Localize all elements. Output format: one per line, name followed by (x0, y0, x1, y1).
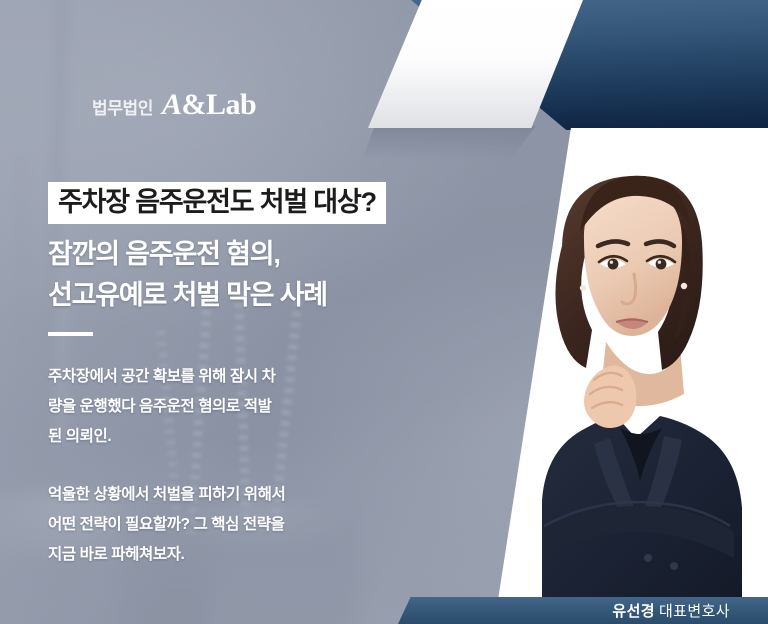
lawyer-portrait-photo (498, 128, 768, 600)
rule-divider (48, 332, 93, 336)
lawyer-name-bar: 유선경대표변호사 (398, 597, 768, 624)
body-paragraph-2: 억울한 상황에서 처벌을 피하기 위해서 어떤 전략이 필요할까? 그 핵심 전… (48, 480, 348, 571)
lawyer-credit: 유선경대표변호사 (612, 600, 730, 621)
paragraph-2-line-1: 억울한 상황에서 처벌을 피하기 위해서 (48, 480, 348, 510)
paragraph-1-line-2: 량을 운행했다 음주운전 혐의로 적발 (48, 392, 348, 422)
logo-wordmark: A&Lab (162, 88, 256, 122)
legal-promo-card: 법무법인 A&Lab 주차장 음주운전도 처벌 대상? 잠깐의 음주운전 혐의,… (0, 0, 768, 624)
body-copy: 주차장에서 공간 확보를 위해 잠시 차 량을 운행했다 음주운전 혐의로 적발… (48, 362, 348, 570)
logo-lab-text: Lab (206, 88, 256, 121)
paragraph-1-line-3: 된 의뢰인. (48, 422, 348, 452)
headline-block: 주차장 음주운전도 처벌 대상? 잠깐의 음주운전 혐의, 선고유예로 처벌 막… (48, 182, 468, 316)
logo-ampersand: & (181, 88, 206, 121)
paragraph-2-line-3: 지금 바로 파헤쳐보자. (48, 540, 348, 570)
logo-korean-prefix: 법무법인 (92, 94, 153, 119)
subtitle-line-2: 선고유예로 처벌 막은 사례 (48, 275, 468, 316)
logo-letter-a: A (162, 88, 182, 121)
paragraph-2-line-2: 어떤 전략이 필요할까? 그 핵심 전략을 (48, 510, 348, 540)
company-logo: 법무법인 A&Lab (92, 88, 256, 122)
lawyer-role: 대표변호사 (659, 603, 730, 620)
paragraph-1-line-1: 주차장에서 공간 확보를 위해 잠시 차 (48, 362, 348, 392)
subtitle-line-1: 잠깐의 음주운전 혐의, (48, 234, 468, 275)
headline-question-highlight: 주차장 음주운전도 처벌 대상? (48, 182, 386, 224)
body-paragraph-1: 주차장에서 공간 확보를 위해 잠시 차 량을 운행했다 음주운전 혐의로 적발… (48, 362, 348, 453)
lawyer-name: 유선경 (612, 603, 655, 620)
headline-subtitle: 잠깐의 음주운전 혐의, 선고유예로 처벌 막은 사례 (48, 234, 468, 316)
